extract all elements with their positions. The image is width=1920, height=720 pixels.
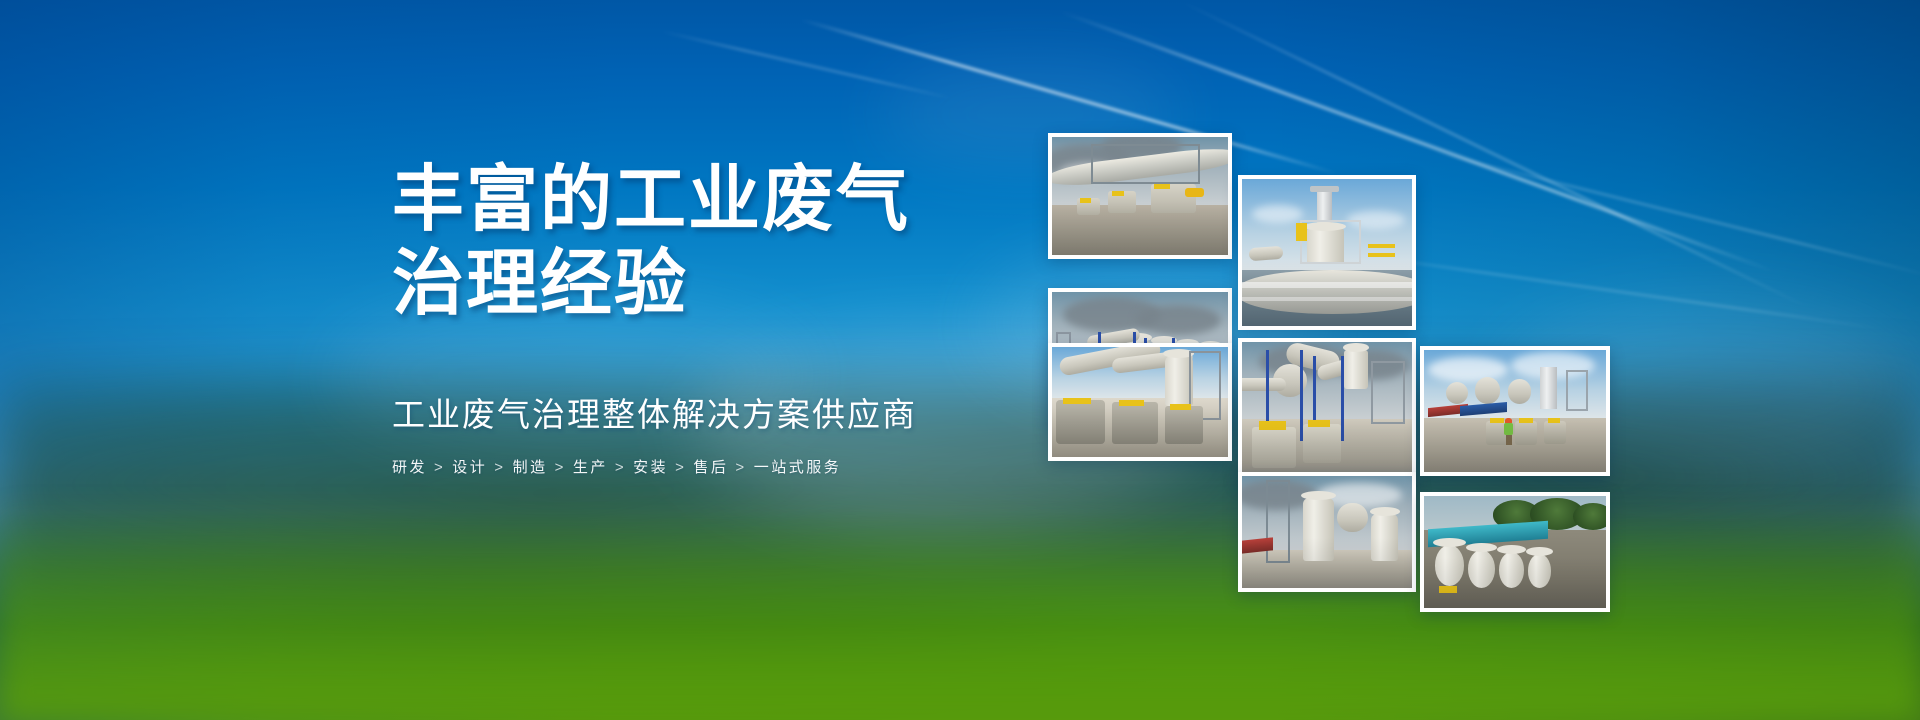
background-grass xyxy=(0,504,1920,720)
contrail-decoration xyxy=(660,30,953,99)
hero-copy-block: 丰富的工业废气 治理经验 工业废气治理整体解决方案供应商 研发>设计>制造>生产… xyxy=(392,158,1012,477)
photo-pipeline-rack[interactable] xyxy=(1048,133,1232,259)
chain-separator-icon: > xyxy=(608,459,633,476)
photo-workshop-yard[interactable] xyxy=(1420,492,1610,612)
chain-separator-icon: > xyxy=(427,459,452,476)
photo-blue-frame-ducts[interactable] xyxy=(1238,338,1416,483)
process-step-2: 设计 xyxy=(452,459,487,476)
hero-subheadline: 工业废气治理整体解决方案供应商 xyxy=(392,326,1012,436)
photo-plant-canopy-image xyxy=(1424,350,1606,472)
photo-plant-canopy[interactable] xyxy=(1420,346,1610,476)
photo-pipeline-rack-image xyxy=(1052,137,1228,255)
photo-tower-site[interactable] xyxy=(1238,472,1416,592)
process-step-1: 研发 xyxy=(392,459,427,476)
chain-separator-icon: > xyxy=(487,459,512,476)
photo-workshop-yard-image xyxy=(1424,496,1606,608)
photo-rto-rooftop-image xyxy=(1242,179,1412,326)
photo-fan-row-image xyxy=(1052,347,1228,457)
process-step-3: 制造 xyxy=(513,459,548,476)
photo-tower-site-image xyxy=(1242,476,1412,588)
photo-rto-rooftop[interactable] xyxy=(1238,175,1416,330)
chain-separator-icon: > xyxy=(548,459,573,476)
chain-separator-icon: > xyxy=(668,459,693,476)
process-step-6: 售后 xyxy=(693,459,728,476)
hero-headline: 丰富的工业废气 治理经验 xyxy=(392,158,1012,326)
chain-separator-icon: > xyxy=(728,459,753,476)
process-step-5: 安装 xyxy=(633,459,668,476)
photo-fan-row[interactable] xyxy=(1048,343,1232,461)
process-step-4: 生产 xyxy=(573,459,608,476)
hero-banner: 丰富的工业废气 治理经验 工业废气治理整体解决方案供应商 研发>设计>制造>生产… xyxy=(0,0,1920,720)
process-chain: 研发>设计>制造>生产>安装>售后>一站式服务 xyxy=(392,436,1012,477)
photo-blue-frame-ducts-image xyxy=(1242,342,1412,479)
process-step-7: 一站式服务 xyxy=(754,459,842,476)
contrail-decoration xyxy=(1430,150,1920,278)
